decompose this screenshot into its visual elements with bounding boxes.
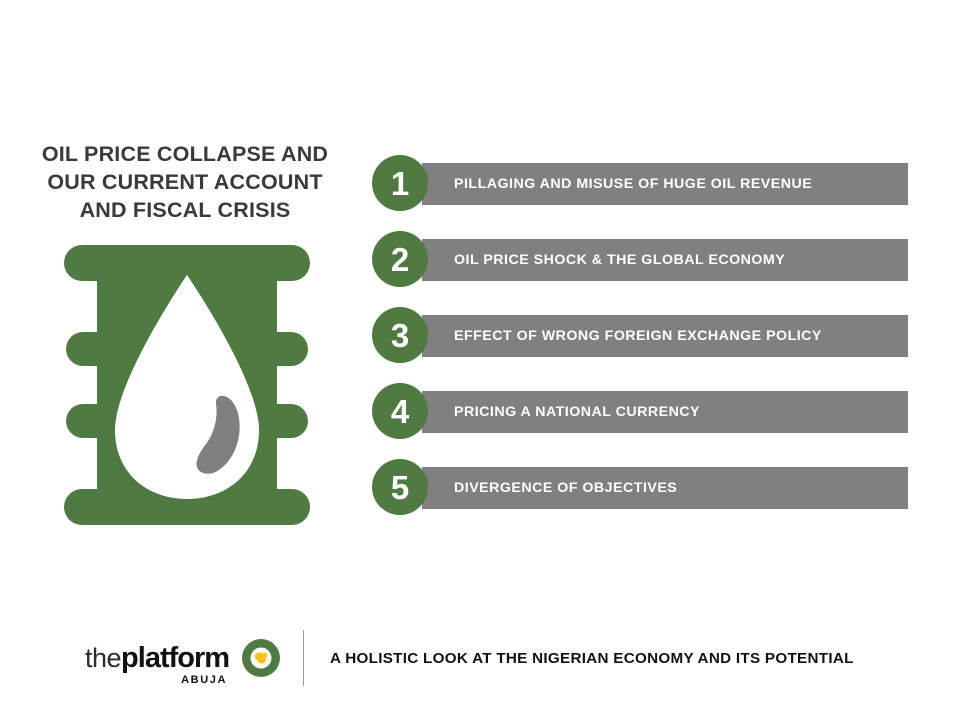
list-item[interactable]: OIL PRICE SHOCK & THE GLOBAL ECONOMY 2 (372, 231, 912, 287)
page-title: OIL PRICE COLLAPSE AND OUR CURRENT ACCOU… (25, 140, 345, 224)
agenda-item-label: DIVERGENCE OF OBJECTIVES (422, 480, 677, 496)
page-title-line-2: OUR CURRENT ACCOUNT (25, 168, 345, 196)
agenda-item-label: OIL PRICE SHOCK & THE GLOBAL ECONOMY (422, 252, 785, 268)
footer-tagline: A HOLISTIC LOOK AT THE NIGERIAN ECONOMY … (330, 650, 854, 667)
agenda-bar[interactable]: PILLAGING AND MISUSE OF HUGE OIL REVENUE (422, 163, 908, 205)
agenda-list: PILLAGING AND MISUSE OF HUGE OIL REVENUE… (372, 155, 912, 520)
footer: theplatform ABUJA A HOLISTIC LOOK AT THE… (0, 620, 960, 720)
page-title-line-1: OIL PRICE COLLAPSE AND (25, 140, 345, 168)
list-item[interactable]: PILLAGING AND MISUSE OF HUGE OIL REVENUE… (372, 155, 912, 211)
list-item[interactable]: PRICING A NATIONAL CURRENCY 4 (372, 383, 912, 439)
footer-divider (303, 630, 304, 686)
page-title-line-3: AND FISCAL CRISIS (25, 196, 345, 224)
agenda-item-label: EFFECT OF WRONG FOREIGN EXCHANGE POLICY (422, 328, 822, 344)
oil-barrel-icon (52, 240, 322, 530)
agenda-bar[interactable]: PRICING A NATIONAL CURRENCY (422, 391, 908, 433)
brand-logo[interactable]: theplatform ABUJA (85, 638, 281, 678)
slide-canvas: OIL PRICE COLLAPSE AND OUR CURRENT ACCOU… (0, 0, 960, 720)
footer-content: theplatform ABUJA A HOLISTIC LOOK AT THE… (85, 628, 854, 688)
logo-abuja-text: ABUJA (181, 675, 227, 686)
agenda-bar[interactable]: DIVERGENCE OF OBJECTIVES (422, 467, 908, 509)
agenda-item-label: PILLAGING AND MISUSE OF HUGE OIL REVENUE (422, 176, 812, 192)
logo-platform-text: platform (121, 642, 229, 674)
agenda-bar[interactable]: EFFECT OF WRONG FOREIGN EXCHANGE POLICY (422, 315, 908, 357)
agenda-bar[interactable]: OIL PRICE SHOCK & THE GLOBAL ECONOMY (422, 239, 908, 281)
agenda-item-number: 5 (372, 459, 428, 515)
nigeria-map-icon (241, 638, 281, 678)
agenda-item-number: 3 (372, 307, 428, 363)
logo-the-text: the (85, 643, 121, 673)
agenda-item-number: 2 (372, 231, 428, 287)
oil-barrel-illustration (52, 240, 322, 530)
agenda-item-number: 4 (372, 383, 428, 439)
left-panel: OIL PRICE COLLAPSE AND OUR CURRENT ACCOU… (0, 140, 370, 540)
list-item[interactable]: EFFECT OF WRONG FOREIGN EXCHANGE POLICY … (372, 307, 912, 363)
agenda-item-label: PRICING A NATIONAL CURRENCY (422, 404, 700, 420)
list-item[interactable]: DIVERGENCE OF OBJECTIVES 5 (372, 459, 912, 515)
logo-wordmark: theplatform ABUJA (85, 644, 229, 673)
agenda-item-number: 1 (372, 155, 428, 211)
